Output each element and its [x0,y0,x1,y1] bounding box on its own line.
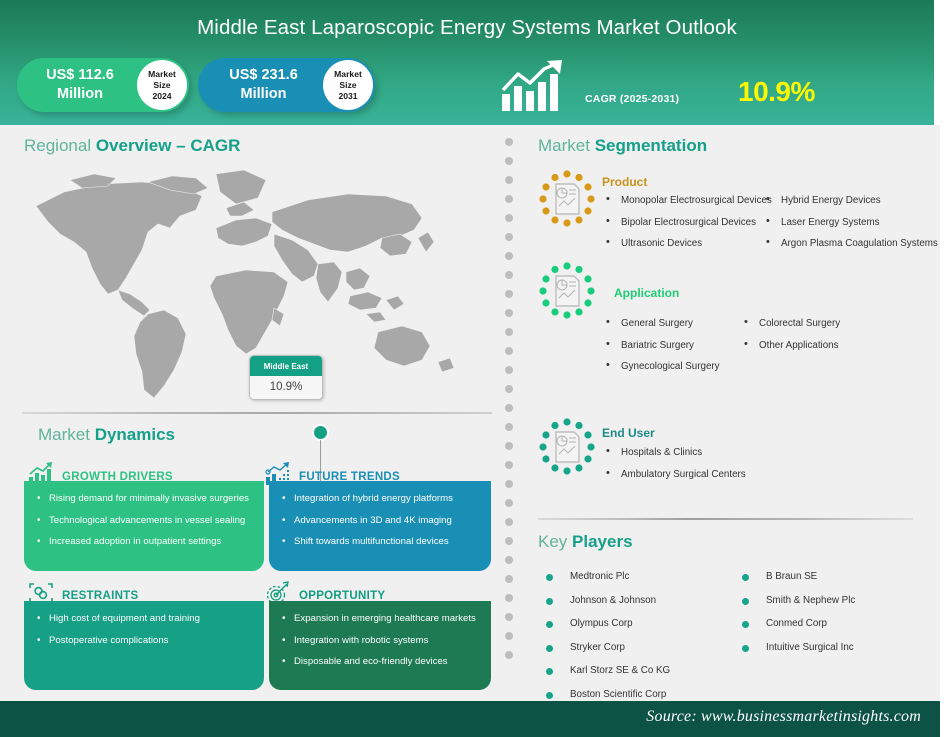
divider-dot [505,309,513,317]
key-players-column-a: Medtronic Plc Johnson & Johnson Olympus … [542,571,670,712]
market-size-2024-value: US$ 112.6 Million [17,66,137,104]
list-item: Other Applications [741,339,891,353]
restraints-box: High cost of equipment and training Post… [24,601,264,690]
list-item: Johnson & Johnson [542,595,670,606]
list-item: Laser Energy Systems [763,216,938,230]
list-item: B Braun SE [738,571,855,582]
key-players-title: Key Players [538,532,633,552]
list-item: Postoperative complications [36,635,254,648]
segment-product-list-b: Hybrid Energy Devices Laser Energy Syste… [763,194,938,259]
document-chart-icon [538,170,596,228]
list-item: Ultrasonic Devices [603,237,773,251]
segment-product-list-a: Monopolar Electrosurgical Devices Bipola… [603,194,773,259]
market-dynamics-title: Market Dynamics [38,425,175,445]
divider-dot [505,518,513,526]
growth-drivers-box: Rising demand for minimally invasive sur… [24,481,264,571]
list-item: Boston Scientific Corp [542,689,670,700]
opportunity-box: Expansion in emerging healthcare markets… [269,601,491,690]
opportunity-list: Expansion in emerging healthcare markets… [281,613,481,669]
divider-dot [505,176,513,184]
growth-chart-icon [500,60,568,117]
future-trends-box: Integration of hybrid energy platforms A… [269,481,491,571]
segment-heading-product: Product [602,175,647,189]
list-item: Ambulatory Surgical Centers [603,468,833,482]
list-item: Hybrid Energy Devices [763,194,938,208]
future-trends-list: Integration of hybrid energy platforms A… [281,493,481,549]
list-item: Conmed Corp [738,618,855,629]
divider-dot [505,423,513,431]
growth-drivers-list: Rising demand for minimally invasive sur… [36,493,254,549]
left-section-divider [22,412,492,414]
segment-heading-application: Application [614,286,679,300]
map-marker-middle-east[interactable] [312,424,329,441]
segment-enduser-list: Hospitals & Clinics Ambulatory Surgical … [603,446,833,489]
opportunity-label: OPPORTUNITY [299,590,385,602]
callout-region-label: Middle East [250,356,322,376]
list-item: Monopolar Electrosurgical Devices [603,194,773,208]
list-item: Hospitals & Clinics [603,446,833,460]
divider-dot [505,271,513,279]
cagr-value: 10.9% [738,76,815,108]
market-size-2031-badge: Market Size 2031 [323,60,373,110]
list-item: Advancements in 3D and 4K imaging [281,515,481,528]
column-divider [505,138,513,688]
list-item: Gynecological Surgery [603,360,738,374]
list-item: Technological advancements in vessel sea… [36,515,254,528]
map-callout: Middle East 10.9% [249,355,323,400]
list-item: Increased adoption in outpatient setting… [36,536,254,549]
market-size-2024-pill: US$ 112.6 Million Market Size 2024 [17,58,189,112]
list-item: Karl Storz SE & Co KG [542,665,670,676]
cagr-label: CAGR (2025-2031) [585,93,679,105]
list-item: Stryker Corp [542,642,670,653]
callout-cagr-value: 10.9% [250,376,322,399]
market-size-2024-badge: Market Size 2024 [137,60,187,110]
list-item: Rising demand for minimally invasive sur… [36,493,254,506]
divider-dot [505,157,513,165]
list-item: High cost of equipment and training [36,613,254,626]
market-size-2031-pill: US$ 231.6 Million Market Size 2031 [198,58,375,112]
segment-application-list-b: Colorectal Surgery Other Applications [741,317,891,360]
divider-dot [505,290,513,298]
segment-application-list-a: General Surgery Bariatric Surgery Gyneco… [603,317,738,382]
list-item: Smith & Nephew Plc [738,595,855,606]
divider-dot [505,575,513,583]
divider-dot [505,461,513,469]
divider-dot [505,480,513,488]
segment-heading-enduser: End User [602,426,655,440]
divider-dot [505,632,513,640]
source-link[interactable]: Source: www.businessmarketinsights.com [646,708,921,726]
infographic-page: Middle East Laparoscopic Energy Systems … [0,0,947,737]
regional-overview-title: Regional Overview – CAGR [24,136,240,156]
header-banner: Middle East Laparoscopic Energy Systems … [0,0,934,125]
restraints-label: RESTRAINTS [62,590,138,602]
divider-dot [505,214,513,222]
market-size-2031-value: US$ 231.6 Million [198,66,323,104]
divider-dot [505,537,513,545]
list-item: Disposable and eco-friendly devices [281,656,481,669]
divider-dot [505,613,513,621]
footer-bar: Source: www.businessmarketinsights.com [0,701,940,737]
list-item: Expansion in emerging healthcare markets [281,613,481,626]
divider-dot [505,442,513,450]
market-segmentation-title: Market Segmentation [538,136,707,156]
divider-dot [505,138,513,146]
list-item: Colorectal Surgery [741,317,891,331]
list-item: General Surgery [603,317,738,331]
list-item: Argon Plasma Coagulation Systems [763,237,938,251]
list-item: Medtronic Plc [542,571,670,582]
restraints-list: High cost of equipment and training Post… [36,613,254,647]
list-item: Integration of hybrid energy platforms [281,493,481,506]
divider-dot [505,328,513,336]
key-players-column-b: B Braun SE Smith & Nephew Plc Conmed Cor… [738,571,855,665]
divider-dot [505,594,513,602]
divider-dot [505,366,513,374]
list-item: Shift towards multifunctional devices [281,536,481,549]
list-item: Intuitive Surgical Inc [738,642,855,653]
divider-dot [505,233,513,241]
divider-dot [505,385,513,393]
divider-dot [505,195,513,203]
divider-dot [505,252,513,260]
divider-dot [505,651,513,659]
list-item: Bipolar Electrosurgical Devices [603,216,773,230]
page-title: Middle East Laparoscopic Energy Systems … [0,16,934,40]
list-item: Bariatric Surgery [603,339,738,353]
divider-dot [505,404,513,412]
document-chart-icon [538,418,596,476]
document-chart-icon [538,262,596,320]
divider-dot [505,347,513,355]
divider-dot [505,499,513,507]
list-item: Integration with robotic systems [281,635,481,648]
divider-dot [505,556,513,564]
right-section-divider [538,518,913,520]
list-item: Olympus Corp [542,618,670,629]
